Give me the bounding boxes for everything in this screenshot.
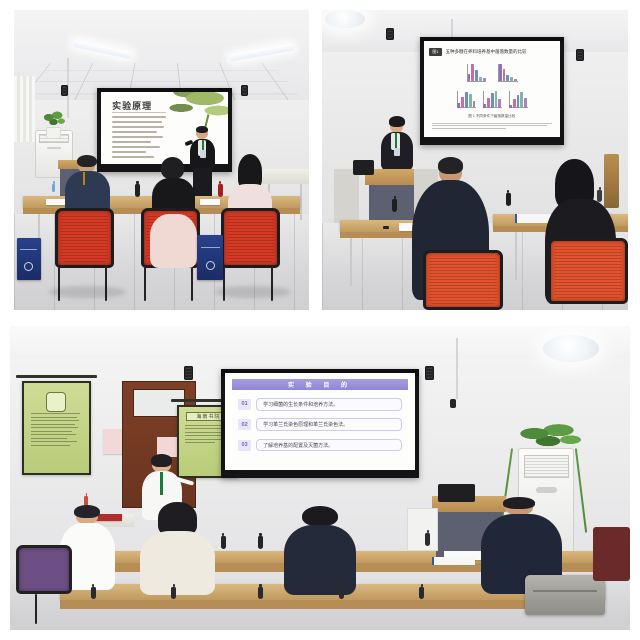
slide-body-text bbox=[112, 116, 168, 161]
item-box: 了解培养基的配置及灭菌方法。 bbox=[256, 439, 402, 452]
bag-emblem bbox=[206, 261, 215, 270]
presenter-hair bbox=[389, 116, 405, 127]
document bbox=[432, 557, 475, 565]
bar-series bbox=[509, 89, 527, 108]
item-text: 学习细菌的生长条件和培养方法。 bbox=[263, 401, 338, 408]
chair-backrest bbox=[423, 250, 503, 310]
presenter-badge bbox=[200, 150, 206, 158]
chair bbox=[16, 545, 72, 594]
conference-bag bbox=[17, 238, 41, 280]
attendee-torso bbox=[284, 525, 355, 595]
ceiling-light bbox=[325, 10, 365, 28]
presenter-lanyard bbox=[395, 133, 397, 148]
thermos-flask bbox=[135, 184, 140, 197]
chair-leg bbox=[191, 265, 193, 301]
smartphone bbox=[383, 226, 389, 229]
coat-on-chair bbox=[150, 214, 197, 268]
item-box: 学习革兰氏染色原理和革兰氏染色法。 bbox=[256, 418, 402, 431]
chart-row-bottom bbox=[424, 89, 560, 110]
item-number: 02 bbox=[238, 419, 251, 430]
person-attendee bbox=[140, 505, 214, 602]
presenter-hair bbox=[151, 454, 173, 467]
chart-row-top bbox=[424, 62, 560, 83]
hanging-microphone bbox=[450, 399, 456, 408]
attendee-hair bbox=[161, 157, 184, 179]
paper-sheet bbox=[200, 199, 221, 205]
objective-item-3: 03 了解培养基的配置及灭菌方法。 bbox=[238, 439, 402, 452]
projection-screen: 实 验 目 的 01 学习细菌的生长条件和培养方法。 02 学习革兰氏染色原理和… bbox=[221, 369, 419, 478]
bar-chart-c bbox=[456, 89, 476, 110]
ac-panel bbox=[536, 487, 558, 493]
objective-item-2: 02 学习革兰氏染色原理和革兰氏染色法。 bbox=[238, 418, 402, 431]
item-number: 01 bbox=[238, 399, 251, 410]
laptop-bag bbox=[525, 575, 606, 615]
thermos-flask bbox=[425, 533, 430, 546]
poster-rail bbox=[16, 375, 97, 378]
thermos-flask bbox=[506, 193, 511, 206]
chair-backrest bbox=[16, 545, 72, 594]
water-bottle bbox=[52, 184, 55, 192]
desktop-monitor bbox=[438, 484, 475, 502]
chair-leg bbox=[144, 265, 146, 301]
wall-speaker bbox=[61, 85, 68, 96]
poster-text bbox=[31, 413, 82, 462]
bag-strip bbox=[20, 249, 37, 251]
attendee-hair bbox=[302, 506, 338, 527]
bar-series bbox=[457, 89, 475, 108]
chair-leg bbox=[35, 594, 37, 624]
wall-speaker bbox=[386, 28, 394, 40]
wall-speaker bbox=[576, 49, 584, 61]
lectern-monitor bbox=[353, 160, 374, 175]
attendee-hair bbox=[77, 155, 97, 167]
chair bbox=[548, 238, 628, 304]
presenter-badge bbox=[394, 148, 400, 156]
projection-screen: 图1 五种多糖在养料培养基中菌落数量的比较 bbox=[420, 37, 564, 145]
classroom-scene-top-left: 实验原理 bbox=[14, 10, 309, 310]
item-text: 了解培养基的配置及灭菌方法。 bbox=[263, 442, 333, 449]
leaf-illustration bbox=[159, 92, 228, 129]
bag-strip bbox=[201, 247, 220, 249]
bar-series bbox=[483, 89, 501, 108]
slide-chart-comparison: 图1 五种多糖在养料培养基中菌落数量的比较 bbox=[424, 41, 560, 137]
wall-speaker bbox=[425, 366, 434, 380]
attendee-lanyard bbox=[83, 172, 85, 184]
slide-title-rule bbox=[112, 112, 166, 113]
floor-shadow bbox=[49, 286, 126, 298]
conference-bag bbox=[197, 235, 224, 280]
thermos-flask bbox=[392, 199, 397, 212]
bar-chart-d bbox=[482, 89, 502, 110]
bar-chart-a bbox=[466, 62, 486, 83]
wall-speaker bbox=[184, 366, 193, 380]
ac-panel bbox=[47, 147, 62, 149]
floor-shadow bbox=[215, 286, 292, 298]
poster-seal bbox=[46, 392, 66, 412]
chair bbox=[423, 250, 503, 310]
thermos-flask bbox=[339, 587, 344, 599]
chair bbox=[55, 208, 114, 268]
presenter-scarf bbox=[160, 472, 163, 496]
classroom-scene-bottom: 海南书院 实 验 目 的 01 学习细菌的生长条件和培养方法。 bbox=[10, 326, 630, 630]
bar-chart-e bbox=[507, 89, 527, 110]
bag-emblem bbox=[24, 262, 33, 271]
photo-collage: 实验原理 bbox=[0, 0, 640, 640]
chair-backrest bbox=[221, 208, 280, 268]
item-text: 学习革兰氏染色原理和革兰氏染色法。 bbox=[263, 421, 348, 428]
slide-footnotes bbox=[432, 123, 552, 129]
table-leg bbox=[300, 184, 302, 220]
classroom-scene-top-right: 图1 五种多糖在养料培养基中菌落数量的比较 bbox=[322, 10, 628, 310]
bar-chart-b bbox=[497, 62, 517, 83]
chair bbox=[221, 208, 280, 268]
presenter-lanyard bbox=[202, 140, 204, 150]
photo-panel-top-left: 实验原理 bbox=[14, 10, 309, 310]
objective-item-1: 01 学习细菌的生长条件和培养方法。 bbox=[238, 398, 402, 411]
person-attendee bbox=[283, 508, 357, 602]
desk-leg bbox=[350, 238, 352, 286]
wall-poster-left bbox=[22, 381, 90, 475]
slide-title: 实验原理 bbox=[112, 99, 152, 112]
wall-notice bbox=[103, 429, 122, 453]
plant-pot bbox=[46, 127, 61, 139]
thermos-flask bbox=[258, 536, 263, 549]
thermos-flask bbox=[419, 587, 424, 599]
thermos-flask bbox=[258, 587, 263, 599]
ac-vent bbox=[524, 455, 569, 478]
window-curtain bbox=[14, 76, 35, 142]
attendee-hair bbox=[438, 157, 463, 174]
slide-header-text: 五种多糖在养料培养基中菌落数量的比较 bbox=[446, 49, 527, 55]
bar-series bbox=[499, 62, 517, 81]
thermos-flask bbox=[221, 536, 226, 549]
attendee-jacket bbox=[140, 531, 214, 595]
thermos-flask bbox=[171, 587, 176, 599]
slide-experimental-objectives: 实 验 目 的 01 学习细菌的生长条件和培养方法。 02 学习革兰氏染色原理和… bbox=[225, 373, 415, 470]
chair-backrest bbox=[548, 238, 628, 304]
chair-backrest bbox=[55, 208, 114, 268]
projector-panel bbox=[407, 508, 438, 551]
photo-panel-top-right: 图1 五种多糖在养料培养基中菌落数量的比较 bbox=[322, 10, 628, 310]
bar-series bbox=[468, 62, 486, 81]
desk-leg bbox=[515, 232, 517, 280]
wall-speaker bbox=[241, 85, 248, 96]
attendee-hair-bun bbox=[74, 505, 100, 518]
wooden-stand bbox=[604, 154, 619, 208]
item-number: 03 bbox=[238, 440, 251, 451]
hanging-cable bbox=[456, 338, 458, 399]
item-box: 学习细菌的生长条件和培养方法。 bbox=[256, 398, 402, 411]
acoustic-panel bbox=[334, 169, 358, 223]
thermos-flask bbox=[218, 184, 223, 197]
chart-caption: 图 1 不同条件下菌落数量比较 bbox=[424, 114, 560, 119]
slide-header: 图1 五种多糖在养料培养基中菌落数量的比较 bbox=[429, 46, 554, 58]
thermos-flask bbox=[91, 587, 96, 599]
photo-panel-bottom: 海南书院 实 验 目 的 01 学习细菌的生长条件和培养方法。 bbox=[10, 326, 630, 630]
attendee-hair bbox=[503, 497, 535, 508]
slide-header: 实 验 目 的 bbox=[232, 379, 407, 390]
slide-header-badge: 图1 bbox=[429, 48, 441, 56]
side-chair bbox=[593, 527, 630, 582]
